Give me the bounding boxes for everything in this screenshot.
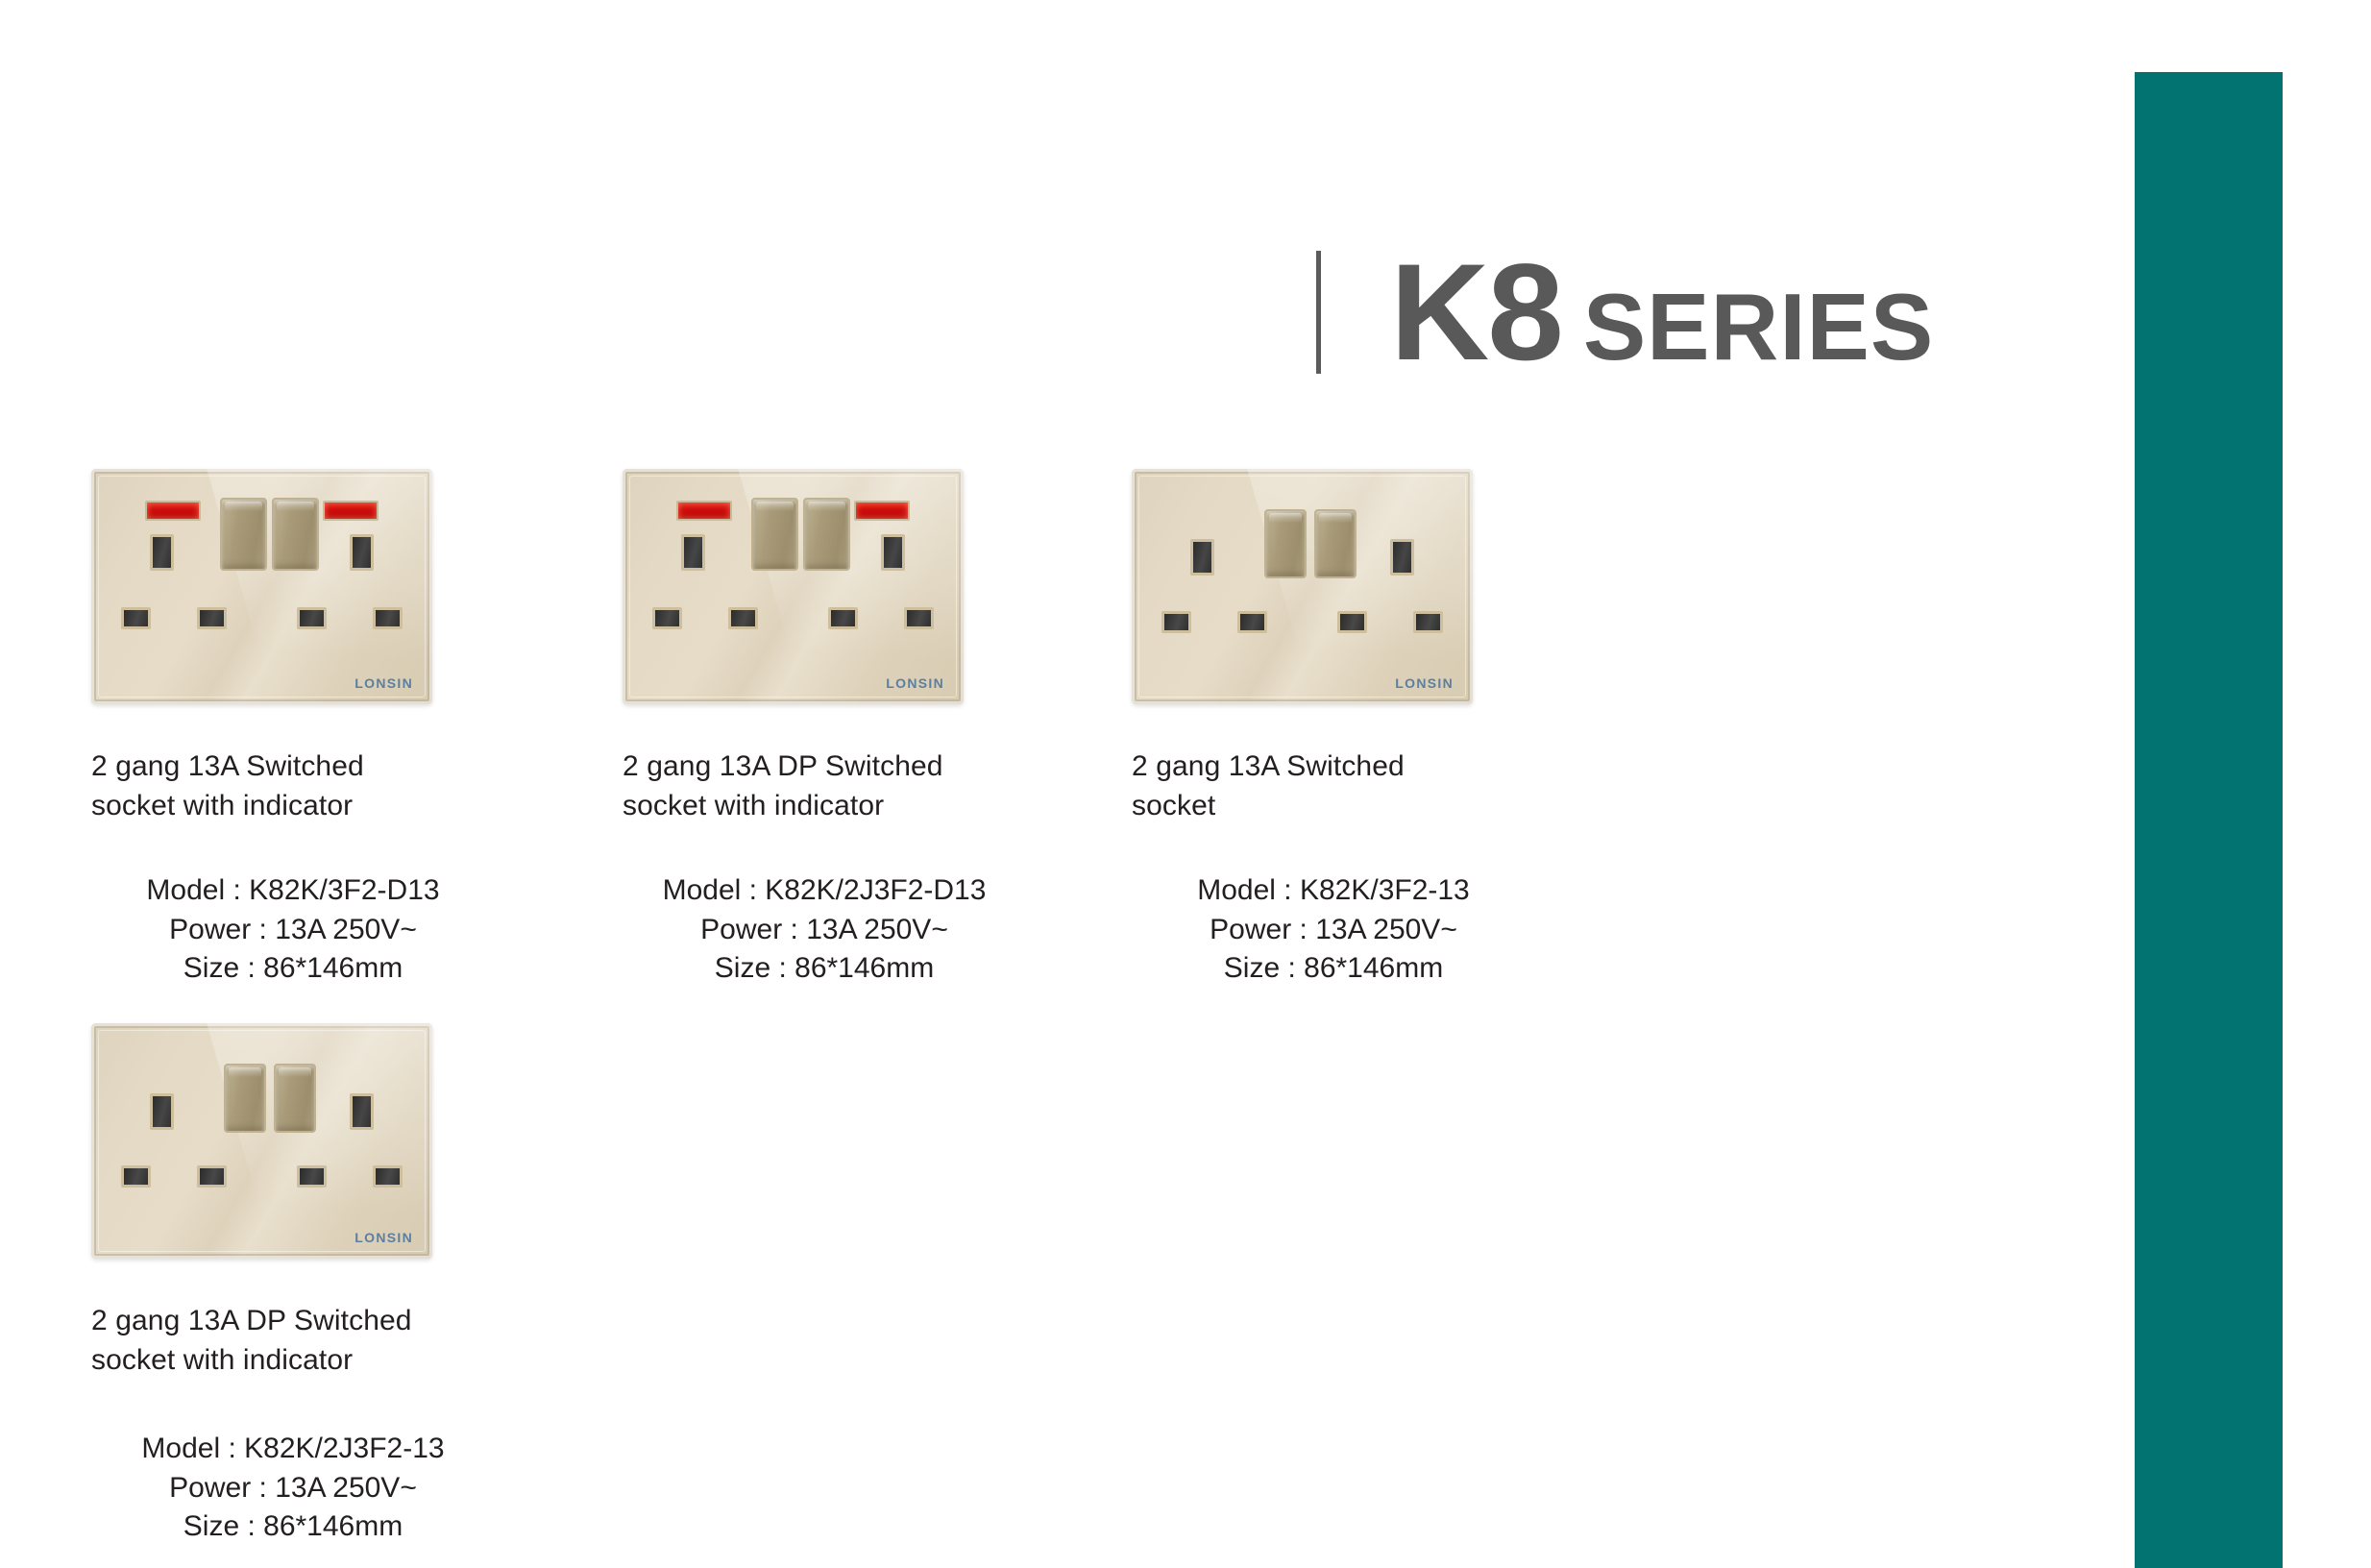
product-name: 2 gang 13A DP Switched socket with indic… (623, 747, 988, 825)
brand-logo-text: LONSIN (354, 1230, 413, 1245)
product-card[interactable]: LONSIN 2 gang 13A Switched socket Model … (1132, 469, 1631, 989)
earth-pin-slot-right (350, 1093, 374, 1130)
product-name-line1: 2 gang 13A DP Switched (91, 1305, 412, 1336)
product-spec-block: Model : K82K/3F2-13 Power : 13A 250V~ Si… (1132, 871, 1535, 989)
earth-pin-slot-left (150, 534, 174, 571)
spec-model: Model : K82K/2J3F2-D13 (623, 871, 1026, 911)
neon-indicator-right (323, 501, 379, 521)
rocker-switch-left (220, 498, 267, 571)
product-spec-block: Model : K82K/3F2-D13 Power : 13A 250V~ S… (91, 871, 495, 989)
spec-power: Power : 13A 250V~ (91, 1469, 495, 1508)
product-caption: 2 gang 13A DP Switched socket with indic… (623, 747, 1074, 989)
neutral-pin-slot-1 (728, 607, 758, 629)
product-name-line1: 2 gang 13A DP Switched (623, 750, 943, 782)
live-pin-slot-2 (1337, 611, 1367, 633)
rocker-switch-left (751, 498, 798, 571)
spec-power: Power : 13A 250V~ (623, 911, 1026, 950)
neutral-pin-slot-2 (373, 1165, 403, 1188)
spec-size: Size : 86*146mm (623, 949, 1026, 989)
live-pin-slot-2 (297, 1165, 327, 1188)
rocker-switch-left (1264, 509, 1307, 578)
product-card[interactable]: LONSIN 2 gang 13A Switched socket with i… (91, 469, 591, 989)
product-image-socket: LONSIN (91, 1023, 432, 1259)
rocker-switch-right (803, 498, 850, 571)
neon-indicator-right (854, 501, 910, 521)
live-pin-slot-1 (121, 1165, 151, 1188)
neutral-pin-slot-1 (1237, 611, 1267, 633)
live-pin-slot-2 (828, 607, 858, 629)
spec-model: Model : K82K/2J3F2-13 (91, 1430, 495, 1469)
spec-size: Size : 86*146mm (91, 1507, 495, 1547)
product-image-socket: LONSIN (623, 469, 964, 704)
spec-size: Size : 86*146mm (91, 949, 495, 989)
spec-size: Size : 86*146mm (1132, 949, 1535, 989)
product-card[interactable]: LONSIN 2 gang 13A DP Switched socket wit… (91, 1023, 591, 1547)
teal-accent-bar (2135, 72, 2283, 1568)
product-caption: 2 gang 13A Switched socket with indicato… (91, 747, 543, 989)
product-name: 2 gang 13A Switched socket (1132, 747, 1497, 825)
earth-pin-slot-right (1390, 539, 1414, 576)
rocker-switch-left (224, 1064, 266, 1133)
gloss-highlight (199, 1023, 432, 1259)
rocker-switch-right (1314, 509, 1357, 578)
product-image-socket: LONSIN (91, 469, 432, 704)
product-name: 2 gang 13A DP Switched socket with indic… (91, 1301, 456, 1380)
product-card[interactable]: LONSIN 2 gang 13A DP Switched socket wit… (623, 469, 1122, 989)
live-pin-slot-1 (652, 607, 682, 629)
spec-power: Power : 13A 250V~ (91, 911, 495, 950)
spec-model: Model : K82K/3F2-D13 (91, 871, 495, 911)
product-caption: 2 gang 13A Switched socket Model : K82K/… (1132, 747, 1583, 989)
product-grid: LONSIN 2 gang 13A Switched socket with i… (0, 0, 2135, 1568)
brand-logo-text: LONSIN (886, 675, 944, 691)
spec-power: Power : 13A 250V~ (1132, 911, 1535, 950)
live-pin-slot-2 (297, 607, 327, 629)
product-name-line1: 2 gang 13A Switched (1132, 750, 1405, 782)
product-spec-block: Model : K82K/2J3F2-13 Power : 13A 250V~ … (91, 1430, 495, 1547)
product-name-line2: socket (1132, 790, 1215, 821)
neutral-pin-slot-1 (197, 1165, 227, 1188)
spec-model: Model : K82K/3F2-13 (1132, 871, 1535, 911)
product-spec-block: Model : K82K/2J3F2-D13 Power : 13A 250V~… (623, 871, 1026, 989)
earth-pin-slot-left (681, 534, 705, 571)
earth-pin-slot-left (150, 1093, 174, 1130)
live-pin-slot-1 (1161, 611, 1191, 633)
brand-logo-text: LONSIN (1395, 675, 1454, 691)
neon-indicator-left (145, 501, 201, 521)
neutral-pin-slot-1 (197, 607, 227, 629)
product-name: 2 gang 13A Switched socket with indicato… (91, 747, 456, 825)
product-name-line2: socket with indicator (91, 790, 353, 821)
neutral-pin-slot-2 (1413, 611, 1443, 633)
gloss-highlight (1239, 469, 1473, 704)
rocker-switch-right (272, 498, 319, 571)
product-caption: 2 gang 13A DP Switched socket with indic… (91, 1301, 543, 1547)
neon-indicator-left (676, 501, 732, 521)
rocker-switch-right (274, 1064, 316, 1133)
earth-pin-slot-right (881, 534, 905, 571)
product-name-line1: 2 gang 13A Switched (91, 750, 364, 782)
neutral-pin-slot-2 (373, 607, 403, 629)
product-name-line2: socket with indicator (623, 790, 884, 821)
live-pin-slot-1 (121, 607, 151, 629)
earth-pin-slot-right (350, 534, 374, 571)
neutral-pin-slot-2 (904, 607, 934, 629)
product-name-line2: socket with indicator (91, 1344, 353, 1376)
product-image-socket: LONSIN (1132, 469, 1473, 704)
brand-logo-text: LONSIN (354, 675, 413, 691)
earth-pin-slot-left (1190, 539, 1214, 576)
